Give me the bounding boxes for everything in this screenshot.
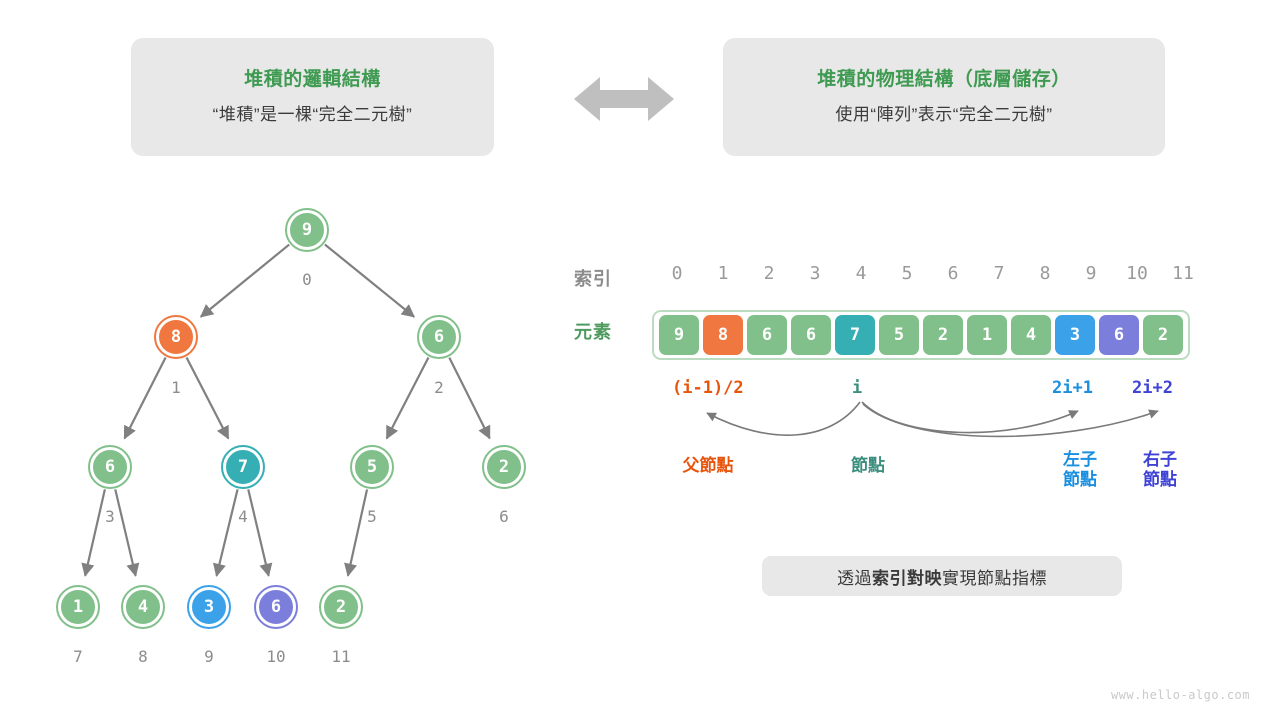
tree-edge — [85, 489, 105, 575]
logical-structure-subtitle: “堆積”是一棵“完全二元樹” — [213, 104, 413, 126]
tree-node-value: 3 — [204, 597, 214, 617]
logical-structure-title: 堆積的邏輯結構 — [244, 68, 381, 93]
tree-edge — [124, 358, 165, 439]
array-index-5: 5 — [884, 263, 930, 284]
watermark: www.hello-algo.com — [1111, 688, 1250, 702]
tree-node-2: 6 — [420, 318, 458, 356]
tree-node-index-3: 3 — [90, 507, 130, 526]
array-cell-3: 6 — [791, 315, 831, 355]
tree-node-value: 2 — [499, 457, 509, 477]
tree-node-0: 9 — [288, 211, 326, 249]
array-cells-container: 986675214362 — [652, 310, 1190, 360]
tree-node-index-2: 2 — [419, 378, 459, 397]
tree-node-index-9: 9 — [189, 647, 229, 666]
parent-role-label: 父節點 — [668, 456, 748, 476]
tree-node-1: 8 — [157, 318, 195, 356]
right-child-formula: 2i+2 — [1132, 378, 1173, 398]
array-index-10: 10 — [1114, 263, 1160, 284]
mapping-arrows — [560, 396, 1220, 456]
index-row-label: 索引 — [574, 265, 612, 291]
tree-node-index-8: 8 — [123, 647, 163, 666]
tree-edge — [387, 357, 429, 438]
tree-node-11: 2 — [322, 588, 360, 626]
array-index-4: 4 — [838, 263, 884, 284]
tree-node-value: 8 — [171, 327, 181, 347]
left-child-formula: 2i+1 — [1052, 378, 1093, 398]
tree-node-value: 9 — [302, 220, 312, 240]
element-row-label: 元素 — [574, 318, 612, 344]
array-cell-0: 9 — [659, 315, 699, 355]
tree-node-value: 2 — [336, 597, 346, 617]
tree-node-index-6: 6 — [484, 507, 524, 526]
array-index-1: 1 — [700, 263, 746, 284]
physical-structure-title: 堆積的物理結構（底層儲存） — [817, 68, 1071, 93]
tree-node-10: 6 — [257, 588, 295, 626]
array-cell-6: 2 — [923, 315, 963, 355]
array-cell-8: 4 — [1011, 315, 1051, 355]
array-index-11: 11 — [1160, 263, 1206, 284]
array-index-8: 8 — [1022, 263, 1068, 284]
diagram-canvas: 堆積的邏輯結構 “堆積”是一棵“完全二元樹” 堆積的物理結構（底層儲存） 使用“… — [0, 0, 1280, 720]
array-index-0: 0 — [654, 263, 700, 284]
tree-edge — [201, 245, 289, 317]
self-formula: i — [852, 378, 862, 398]
tree-edge — [115, 489, 135, 575]
tree-node-index-0: 0 — [287, 270, 327, 289]
array-index-9: 9 — [1068, 263, 1114, 284]
tree-node-8: 4 — [124, 588, 162, 626]
parent-formula: (i-1)/2 — [672, 378, 744, 398]
logical-structure-box: 堆積的邏輯結構 “堆積”是一棵“完全二元樹” — [131, 38, 494, 156]
array-cell-9: 3 — [1055, 315, 1095, 355]
array-cell-2: 6 — [747, 315, 787, 355]
tree-node-index-7: 7 — [58, 647, 98, 666]
tree-node-value: 6 — [105, 457, 115, 477]
array-index-3: 3 — [792, 263, 838, 284]
tree-node-value: 7 — [238, 457, 248, 477]
index-row: 01234567891011 — [654, 263, 1206, 284]
caption-prefix: 透過 — [837, 564, 872, 589]
left-child-role-label: 左子節點 — [1050, 450, 1110, 489]
tree-node-value: 1 — [73, 597, 83, 617]
tree-node-index-1: 1 — [156, 378, 196, 397]
array-index-6: 6 — [930, 263, 976, 284]
tree-node-value: 5 — [367, 457, 377, 477]
tree-node-5: 5 — [353, 448, 391, 486]
double-arrow-icon — [574, 74, 674, 124]
tree-node-index-4: 4 — [223, 507, 263, 526]
tree-node-value: 6 — [434, 327, 444, 347]
array-cell-10: 6 — [1099, 315, 1139, 355]
self-role-label: 節點 — [828, 456, 908, 476]
physical-structure-box: 堆積的物理結構（底層儲存） 使用“陣列”表示“完全二元樹” — [723, 38, 1165, 156]
index-mapping-formulas: (i-1)/2 i 2i+1 2i+2 父節點 節點 左子節點 右子節點 — [560, 378, 1220, 518]
array-cell-4: 7 — [835, 315, 875, 355]
physical-structure-subtitle: 使用“陣列”表示“完全二元樹” — [835, 104, 1052, 126]
heap-tree: 90816263745526174839610211 — [0, 180, 570, 690]
tree-edge — [325, 244, 414, 316]
array-index-7: 7 — [976, 263, 1022, 284]
array-cell-11: 2 — [1143, 315, 1183, 355]
tree-node-value: 4 — [138, 597, 148, 617]
array-representation: 索引 元素 01234567891011 986675214362 — [560, 255, 1220, 375]
tree-node-3: 6 — [91, 448, 129, 486]
array-cell-5: 5 — [879, 315, 919, 355]
tree-node-index-5: 5 — [352, 507, 392, 526]
tree-edge — [348, 489, 367, 575]
tree-node-index-11: 11 — [321, 647, 361, 666]
tree-edge — [248, 489, 268, 575]
array-cell-1: 8 — [703, 315, 743, 355]
caption-suffix: 實現節點指標 — [942, 564, 1047, 589]
caption-box: 透過索引對映實現節點指標 — [762, 556, 1122, 596]
tree-node-9: 3 — [190, 588, 228, 626]
tree-edge — [187, 357, 229, 438]
array-cell-7: 1 — [967, 315, 1007, 355]
array-index-2: 2 — [746, 263, 792, 284]
tree-edge — [217, 489, 238, 576]
tree-node-6: 2 — [485, 448, 523, 486]
tree-edge — [449, 358, 489, 439]
tree-node-index-10: 10 — [256, 647, 296, 666]
tree-node-4: 7 — [224, 448, 262, 486]
tree-node-value: 6 — [271, 597, 281, 617]
right-child-role-label: 右子節點 — [1130, 450, 1190, 489]
tree-node-7: 1 — [59, 588, 97, 626]
caption-emphasis: 索引對映 — [872, 564, 942, 589]
